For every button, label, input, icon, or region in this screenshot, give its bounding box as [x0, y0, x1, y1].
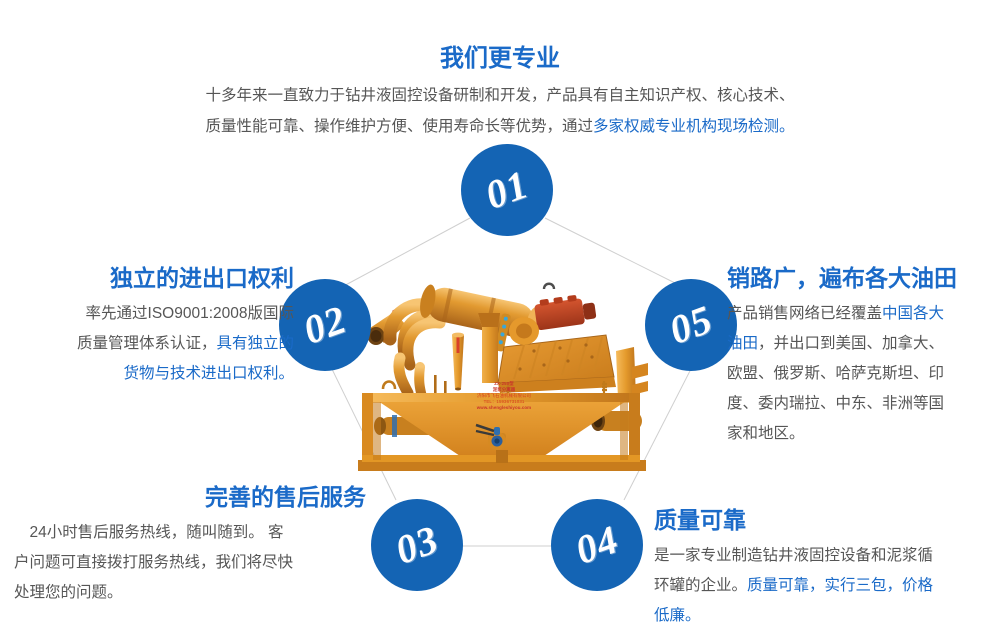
feature-body-highlight: 低廉。 [654, 607, 701, 624]
feature-heading-05: 销路广，遍布各大油田 [727, 264, 995, 293]
feature-body-line: 环罐的企业。 [654, 577, 747, 594]
feature-number-label: 01 [480, 164, 533, 216]
feature-body-line: 率先通过ISO9001:2008版国际 [86, 305, 294, 322]
feature-body-line: 家和地区。 [727, 425, 805, 442]
feature-body-line: 质量性能可靠、操作维护方便、使用寿命长等优势，通过 [205, 118, 593, 135]
feature-body-highlight: 中国各大 [882, 305, 944, 322]
machine-decal-text: ZX-250型 泥浆分离器 济阳市飞石油机械有限公司 TEL：159367310… [452, 381, 556, 411]
feature-block-02: 独立的进出口权利 率先通过ISO9001:2008版国际 质量管理体系认证，具有… [18, 264, 294, 389]
feature-body-05: 产品销售网络已经覆盖中国各大 油田，并出口到美国、加拿大、 欧盟、俄罗斯、哈萨克… [727, 299, 995, 449]
feature-heading-03: 完善的售后服务 [14, 483, 366, 512]
feature-number-badge-03[interactable]: 03 [371, 499, 463, 591]
feature-body-04: 是一家专业制造钻井液固控设备和泥浆循 环罐的企业。质量可靠，实行三包，价格 低廉… [654, 541, 998, 631]
feature-body-line: 24小时售后服务热线，随叫随到。 客 [14, 524, 284, 541]
feature-body-highlight: 质量可靠，实行三包，价格 [747, 577, 933, 594]
feature-number-badge-04[interactable]: 04 [551, 499, 643, 591]
feature-body-highlight: 多家权威专业机构现场检测。 [593, 118, 795, 135]
feature-block-04: 质量可靠 是一家专业制造钻井液固控设备和泥浆循 环罐的企业。质量可靠，实行三包，… [654, 506, 998, 631]
feature-body-line: 欧盟、俄罗斯、哈萨克斯坦、印 [727, 365, 944, 382]
feature-block-01: 我们更专业 十多年来一直致力于钻井液固控设备研制和开发，产品具有自主知识产权、核… [150, 44, 850, 142]
feature-pentagon-infographic: ZX-250型 泥浆分离器 济阳市飞石油机械有限公司 TEL：159367310… [0, 0, 1000, 642]
feature-number-badge-01[interactable]: 01 [461, 144, 553, 236]
feature-number-label: 03 [390, 519, 443, 571]
feature-body-line: ，并出口到美国、加拿大、 [758, 335, 944, 352]
feature-body-line: 是一家专业制造钻井液固控设备和泥浆循 [654, 547, 933, 564]
feature-body-03: 24小时售后服务热线，随叫随到。 客 户问题可直接拨打服务热线，我们将尽快 处理… [14, 518, 366, 608]
feature-body-01: 十多年来一直致力于钻井液固控设备研制和开发，产品具有自主知识产权、核心技术、 质… [150, 80, 850, 142]
feature-body-highlight: 货物与技术进出口权利。 [123, 365, 294, 382]
decal-line-5: www.shengleshiyou.com [452, 405, 556, 411]
feature-block-03: 完善的售后服务 24小时售后服务热线，随叫随到。 客 户问题可直接拨打服务热线，… [14, 483, 366, 608]
product-machine-image [348, 255, 652, 481]
feature-number-label: 05 [664, 299, 717, 351]
feature-block-05: 销路广，遍布各大油田 产品销售网络已经覆盖中国各大 油田，并出口到美国、加拿大、… [727, 264, 995, 449]
feature-body-line: 十多年来一直致力于钻井液固控设备研制和开发，产品具有自主知识产权、核心技术、 [205, 87, 794, 104]
feature-number-label: 04 [570, 519, 623, 571]
feature-number-label: 02 [298, 299, 351, 351]
feature-body-02: 率先通过ISO9001:2008版国际 质量管理体系认证，具有独立的 货物与技术… [18, 299, 294, 389]
feature-heading-04: 质量可靠 [654, 506, 998, 535]
feature-number-badge-05[interactable]: 05 [645, 279, 737, 371]
feature-heading-01: 我们更专业 [150, 44, 850, 74]
feature-body-line: 产品销售网络已经覆盖 [727, 305, 882, 322]
feature-body-line: 处理您的问题。 [14, 584, 123, 601]
feature-heading-02: 独立的进出口权利 [18, 264, 294, 293]
feature-body-highlight: 油田 [727, 335, 758, 352]
feature-body-line: 户问题可直接拨打服务热线，我们将尽快 [14, 554, 293, 571]
feature-body-line: 度、委内瑞拉、中东、非洲等国 [727, 395, 944, 412]
feature-body-highlight: 具有独立的 [216, 335, 294, 352]
feature-body-line: 质量管理体系认证， [77, 335, 217, 352]
